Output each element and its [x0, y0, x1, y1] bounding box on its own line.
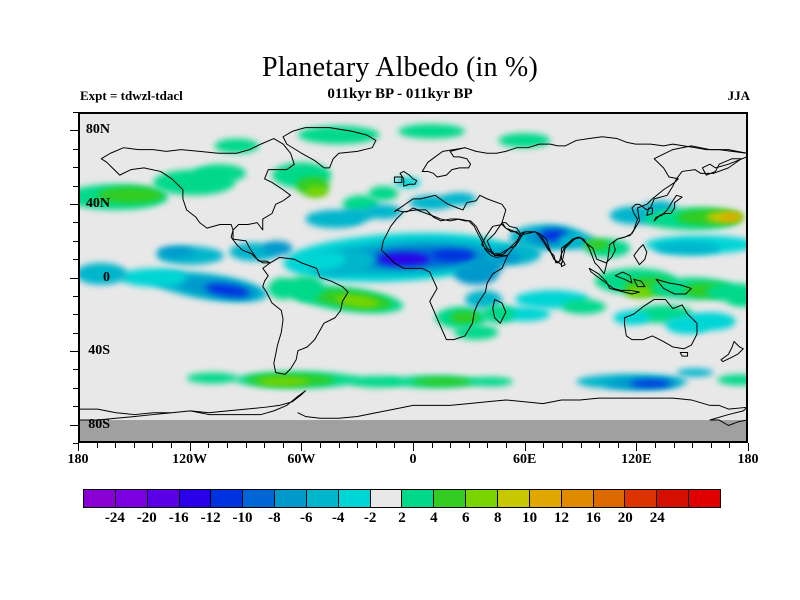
- colorbar-cell: [689, 490, 720, 507]
- y-axis-label: 0: [70, 270, 110, 286]
- anomaly-patch: [398, 124, 465, 139]
- y-axis-label: 40S: [70, 343, 110, 359]
- y-tick: [73, 222, 78, 223]
- anomaly-patch: [498, 133, 550, 148]
- anomaly-patch: [471, 259, 504, 274]
- anomaly-patch: [719, 214, 741, 221]
- colorbar-cell: [148, 490, 180, 507]
- x-tick: [450, 443, 451, 448]
- y-tick: [73, 369, 78, 370]
- x-tick: [729, 443, 730, 448]
- x-tick: [636, 443, 637, 451]
- colorbar-label: 24: [650, 510, 665, 527]
- colorbar-cell: [275, 490, 307, 507]
- y-tick: [73, 186, 78, 187]
- experiment-label: Expt = tdwzl-tdacl: [80, 88, 183, 104]
- anomaly-patch: [561, 299, 606, 314]
- x-tick: [246, 443, 247, 448]
- colorbar-label: 20: [618, 510, 633, 527]
- colorbar-cell: [562, 490, 594, 507]
- colorbar-cell: [625, 490, 657, 507]
- x-axis-label: 0: [410, 452, 417, 468]
- colorbar-label: -24: [105, 510, 125, 527]
- colorbar-label: -6: [300, 510, 313, 527]
- colorbar-cell: [466, 490, 498, 507]
- x-tick: [357, 443, 358, 448]
- colorbar-label: 6: [462, 510, 470, 527]
- colorbar-cell: [307, 490, 339, 507]
- anomaly-patch: [365, 204, 402, 219]
- map-plot-area: [78, 112, 748, 443]
- colorbar-label: 4: [430, 510, 438, 527]
- x-tick: [264, 443, 265, 448]
- x-tick: [320, 443, 321, 448]
- x-tick: [227, 443, 228, 448]
- colorbar-label: -20: [137, 510, 157, 527]
- colorbar-cell: [180, 490, 212, 507]
- x-axis-label: 180: [738, 452, 759, 468]
- colorbar-label: 10: [522, 510, 537, 527]
- colorbar-cell: [211, 490, 243, 507]
- anomaly-patch: [378, 253, 430, 265]
- x-tick: [376, 443, 377, 448]
- colorbar-cell: [498, 490, 530, 507]
- y-tick: [73, 112, 78, 113]
- y-tick: [73, 406, 78, 407]
- anomaly-patch: [450, 311, 480, 324]
- anomaly-patch: [432, 250, 477, 262]
- anomaly-patch: [268, 278, 298, 300]
- x-tick: [748, 443, 749, 451]
- x-tick: [618, 443, 619, 448]
- x-tick: [115, 443, 116, 448]
- x-tick: [432, 443, 433, 448]
- colorbar-label: -4: [332, 510, 345, 527]
- y-tick: [73, 296, 78, 297]
- antarctica-mask: [79, 420, 747, 442]
- x-tick: [692, 443, 693, 448]
- y-tick: [73, 333, 78, 334]
- x-tick: [581, 443, 582, 448]
- x-tick: [655, 443, 656, 448]
- x-tick: [413, 443, 414, 451]
- anomaly-patch: [194, 164, 246, 182]
- colorbar-cell: [339, 490, 371, 507]
- colorbar-cell: [116, 490, 148, 507]
- anomaly-patch: [676, 369, 713, 377]
- colorbar-label: -16: [169, 510, 189, 527]
- world-map-contour-field: [79, 113, 747, 442]
- colorbar: [83, 489, 721, 508]
- x-axis-label: 60E: [513, 452, 536, 468]
- colorbar-cell: [434, 490, 466, 507]
- colorbar-label: 12: [554, 510, 569, 527]
- colorbar-label: -8: [268, 510, 281, 527]
- anomaly-patch: [654, 242, 721, 255]
- colorbar-cell: [594, 490, 626, 507]
- y-tick: [73, 167, 78, 168]
- colorbar-tick-labels: -24-20-16-12-10-8-6-4-224681012162024: [83, 510, 721, 530]
- x-tick: [171, 443, 172, 448]
- anomaly-patch: [469, 377, 514, 387]
- colorbar-label: 8: [494, 510, 502, 527]
- y-axis-label: 40N: [70, 196, 110, 212]
- x-tick: [394, 443, 395, 448]
- anomaly-patch: [305, 186, 327, 197]
- x-tick: [190, 443, 191, 451]
- y-axis-label: 80S: [70, 417, 110, 433]
- x-tick: [78, 443, 79, 451]
- x-axis-label: 120E: [621, 452, 651, 468]
- anomaly-patch: [368, 186, 398, 201]
- y-tick: [73, 259, 78, 260]
- y-tick: [73, 388, 78, 389]
- x-tick: [152, 443, 153, 448]
- x-tick: [525, 443, 526, 451]
- colorbar-label: 2: [398, 510, 406, 527]
- anomaly-patch: [120, 268, 187, 286]
- colorbar-cell: [84, 490, 116, 507]
- colorbar-cell: [371, 490, 403, 507]
- x-tick: [97, 443, 98, 448]
- x-tick: [599, 443, 600, 448]
- x-tick: [711, 443, 712, 448]
- anomaly-patch: [257, 378, 309, 386]
- y-tick: [73, 241, 78, 242]
- x-axis-label: 60W: [287, 452, 315, 468]
- anomaly-patch: [413, 378, 472, 386]
- anomaly-patch: [613, 310, 650, 325]
- y-axis-label: 80N: [70, 122, 110, 138]
- x-tick: [339, 443, 340, 448]
- x-tick: [674, 443, 675, 448]
- x-tick: [283, 443, 284, 448]
- x-tick: [487, 443, 488, 448]
- x-tick: [469, 443, 470, 448]
- x-tick: [506, 443, 507, 448]
- season-label: JJA: [728, 88, 750, 104]
- x-tick: [562, 443, 563, 448]
- colorbar-label: -10: [233, 510, 253, 527]
- colorbar-cell: [657, 490, 689, 507]
- figure-canvas: Planetary Albedo (in %) 011kyr BP - 011k…: [0, 0, 800, 600]
- colorbar-label: 16: [586, 510, 601, 527]
- x-tick: [543, 443, 544, 448]
- x-axis-label: 120W: [172, 452, 207, 468]
- anomaly-patch: [684, 312, 736, 330]
- anomaly-patch: [187, 373, 239, 384]
- page-title: Planetary Albedo (in %): [0, 52, 800, 84]
- anomaly-patch: [482, 305, 515, 323]
- y-tick: [73, 443, 78, 444]
- anomaly-patch: [630, 380, 671, 387]
- x-tick: [134, 443, 135, 448]
- anomaly-patch: [157, 246, 194, 257]
- colorbar-label: -2: [364, 510, 377, 527]
- colorbar-cell: [402, 490, 434, 507]
- colorbar-cell: [243, 490, 275, 507]
- colorbar-label: -12: [201, 510, 221, 527]
- colorbar-cell: [530, 490, 562, 507]
- anomaly-patch: [263, 241, 293, 256]
- y-tick: [73, 314, 78, 315]
- x-tick: [301, 443, 302, 451]
- x-tick: [208, 443, 209, 448]
- anomaly-patch: [214, 139, 259, 154]
- x-axis-label: 180: [68, 452, 89, 468]
- y-tick: [73, 149, 78, 150]
